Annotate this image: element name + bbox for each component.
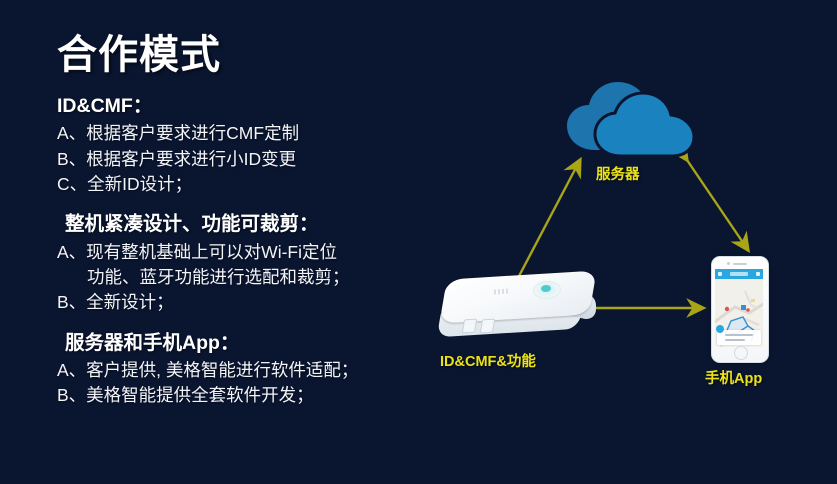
router-device-icon <box>438 275 603 347</box>
app-title-bar <box>715 269 763 279</box>
arrow-server-to-phone <box>687 160 748 250</box>
device-port-2 <box>480 319 496 334</box>
locate-icon <box>716 325 724 333</box>
section-heading: ID&CMF： <box>57 92 457 120</box>
phone-camera <box>727 262 730 265</box>
connector-arrows <box>400 0 837 484</box>
server-label: 服务器 <box>596 163 640 184</box>
section-heading: 服务器和手机App： <box>57 329 457 357</box>
architecture-diagram: 服务器 ID&CMF&功能 <box>400 0 837 484</box>
section-line: B、根据客户要求进行小ID变更 <box>57 147 457 172</box>
section-line: B、全新设计； <box>57 290 457 315</box>
section-id-cmf: ID&CMF： A、根据客户要求进行CMF定制 B、根据客户要求进行小ID变更 … <box>57 92 457 197</box>
info-line-1 <box>725 334 753 336</box>
slide-canvas: 合作模式 ID&CMF： A、根据客户要求进行CMF定制 B、根据客户要求进行小… <box>0 0 837 484</box>
map-info-card <box>717 330 761 345</box>
phone-speaker <box>733 263 747 265</box>
smartphone-icon <box>711 256 769 363</box>
app-action-icon <box>756 272 760 276</box>
app-menu-icon <box>718 272 722 276</box>
page-title: 合作模式 <box>57 32 457 78</box>
section-line: A、客户提供, 美格智能进行软件适配； <box>57 358 457 383</box>
phone-label: 手机App <box>705 367 762 388</box>
phone-screen <box>715 269 763 347</box>
cloud-icon <box>565 78 700 158</box>
section-line: A、根据客户要求进行CMF定制 <box>57 121 457 146</box>
device-label: ID&CMF&功能 <box>440 350 536 371</box>
text-column: 合作模式 ID&CMF： A、根据客户要求进行CMF定制 B、根据客户要求进行小… <box>57 32 457 422</box>
app-title-placeholder <box>730 272 748 276</box>
section-line: C、全新ID设计； <box>57 172 457 197</box>
phone-home-button <box>734 346 748 360</box>
section-heading: 整机紧凑设计、功能可裁剪： <box>57 210 457 238</box>
section-line: A、现有整机基础上可以对Wi-Fi定位 <box>57 240 457 265</box>
section-compact-design: 整机紧凑设计、功能可裁剪： A、现有整机基础上可以对Wi-Fi定位 功能、蓝牙功… <box>57 210 457 315</box>
device-port-1 <box>462 319 478 334</box>
arrow-device-to-server <box>518 160 580 278</box>
section-line: B、美格智能提供全套软件开发； <box>57 383 457 408</box>
section-line: 功能、蓝牙功能进行选配和裁剪； <box>57 265 457 290</box>
section-server-app: 服务器和手机App： A、客户提供, 美格智能进行软件适配； B、美格智能提供全… <box>57 329 457 409</box>
info-line-2 <box>725 339 745 341</box>
